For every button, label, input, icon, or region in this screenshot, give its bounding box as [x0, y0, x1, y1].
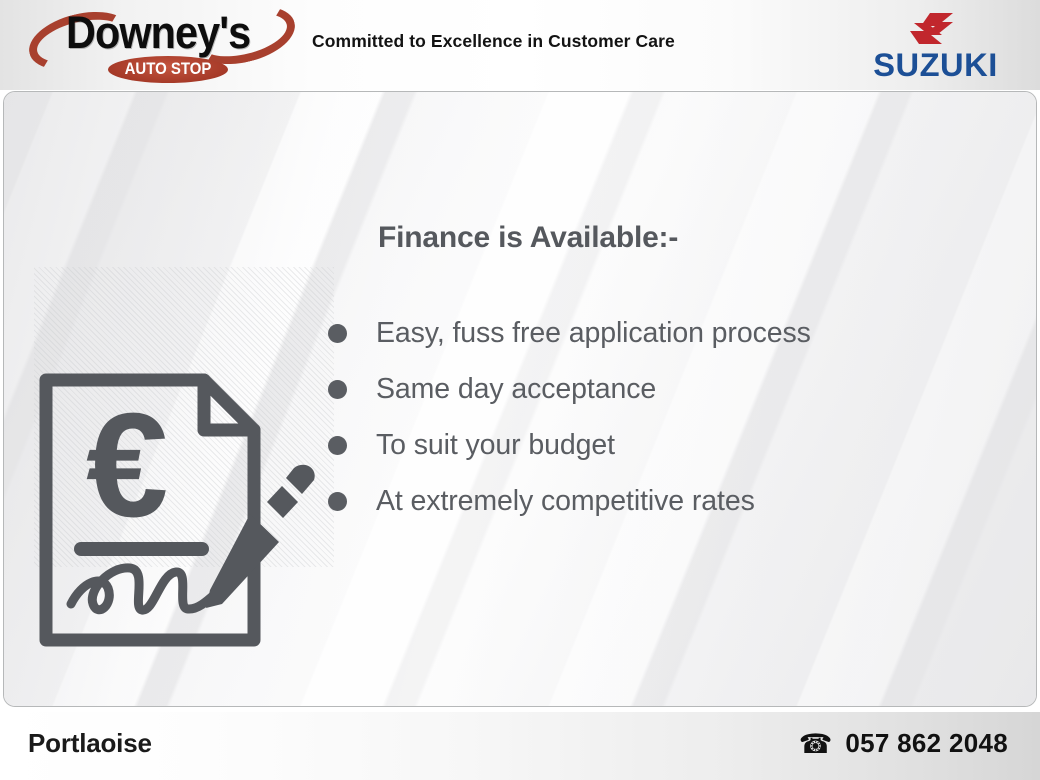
suzuki-logo[interactable]: SUZUKI [858, 12, 1013, 82]
list-item-label: Same day acceptance [376, 373, 656, 406]
finance-panel: € Finance is Available:- Easy, fuss free… [3, 91, 1037, 707]
branch-location-label: Portlaoise [28, 728, 152, 759]
list-item: Same day acceptance [328, 361, 1008, 417]
bullet-dot-icon [328, 324, 347, 343]
svg-text:€: € [86, 383, 168, 548]
logo-subtitle: AUTO STOP [115, 59, 221, 79]
finance-benefits-list: Easy, fuss free application process Same… [328, 305, 1008, 529]
euro-document-signature-icon: € [36, 364, 326, 656]
panel-heading: Finance is Available:- [378, 221, 678, 255]
page-footer: Portlaoise ☎ 057 862 2048 [0, 712, 1040, 780]
bullet-dot-icon [328, 436, 347, 455]
contact-phone[interactable]: ☎ 057 862 2048 [799, 728, 1008, 759]
list-item-label: Easy, fuss free application process [376, 317, 811, 350]
phone-number-label: 057 862 2048 [845, 728, 1008, 759]
logo-wordmark: Downey's [66, 7, 250, 59]
header-tagline: Committed to Excellence in Customer Care [312, 31, 675, 52]
list-item-label: To suit your budget [376, 429, 615, 462]
list-item-label: At extremely competitive rates [376, 485, 755, 518]
telephone-icon: ☎ [799, 729, 833, 759]
bullet-dot-icon [328, 380, 347, 399]
suzuki-s-icon [908, 12, 960, 46]
suzuki-wordmark: SUZUKI [856, 48, 1014, 82]
bullet-dot-icon [328, 492, 347, 511]
downeys-auto-stop-logo[interactable]: Downey's AUTO STOP [28, 6, 298, 86]
list-item: To suit your budget [328, 417, 1008, 473]
list-item: Easy, fuss free application process [328, 305, 1008, 361]
page-header: Downey's AUTO STOP Committed to Excellen… [0, 0, 1040, 90]
list-item: At extremely competitive rates [328, 473, 1008, 529]
